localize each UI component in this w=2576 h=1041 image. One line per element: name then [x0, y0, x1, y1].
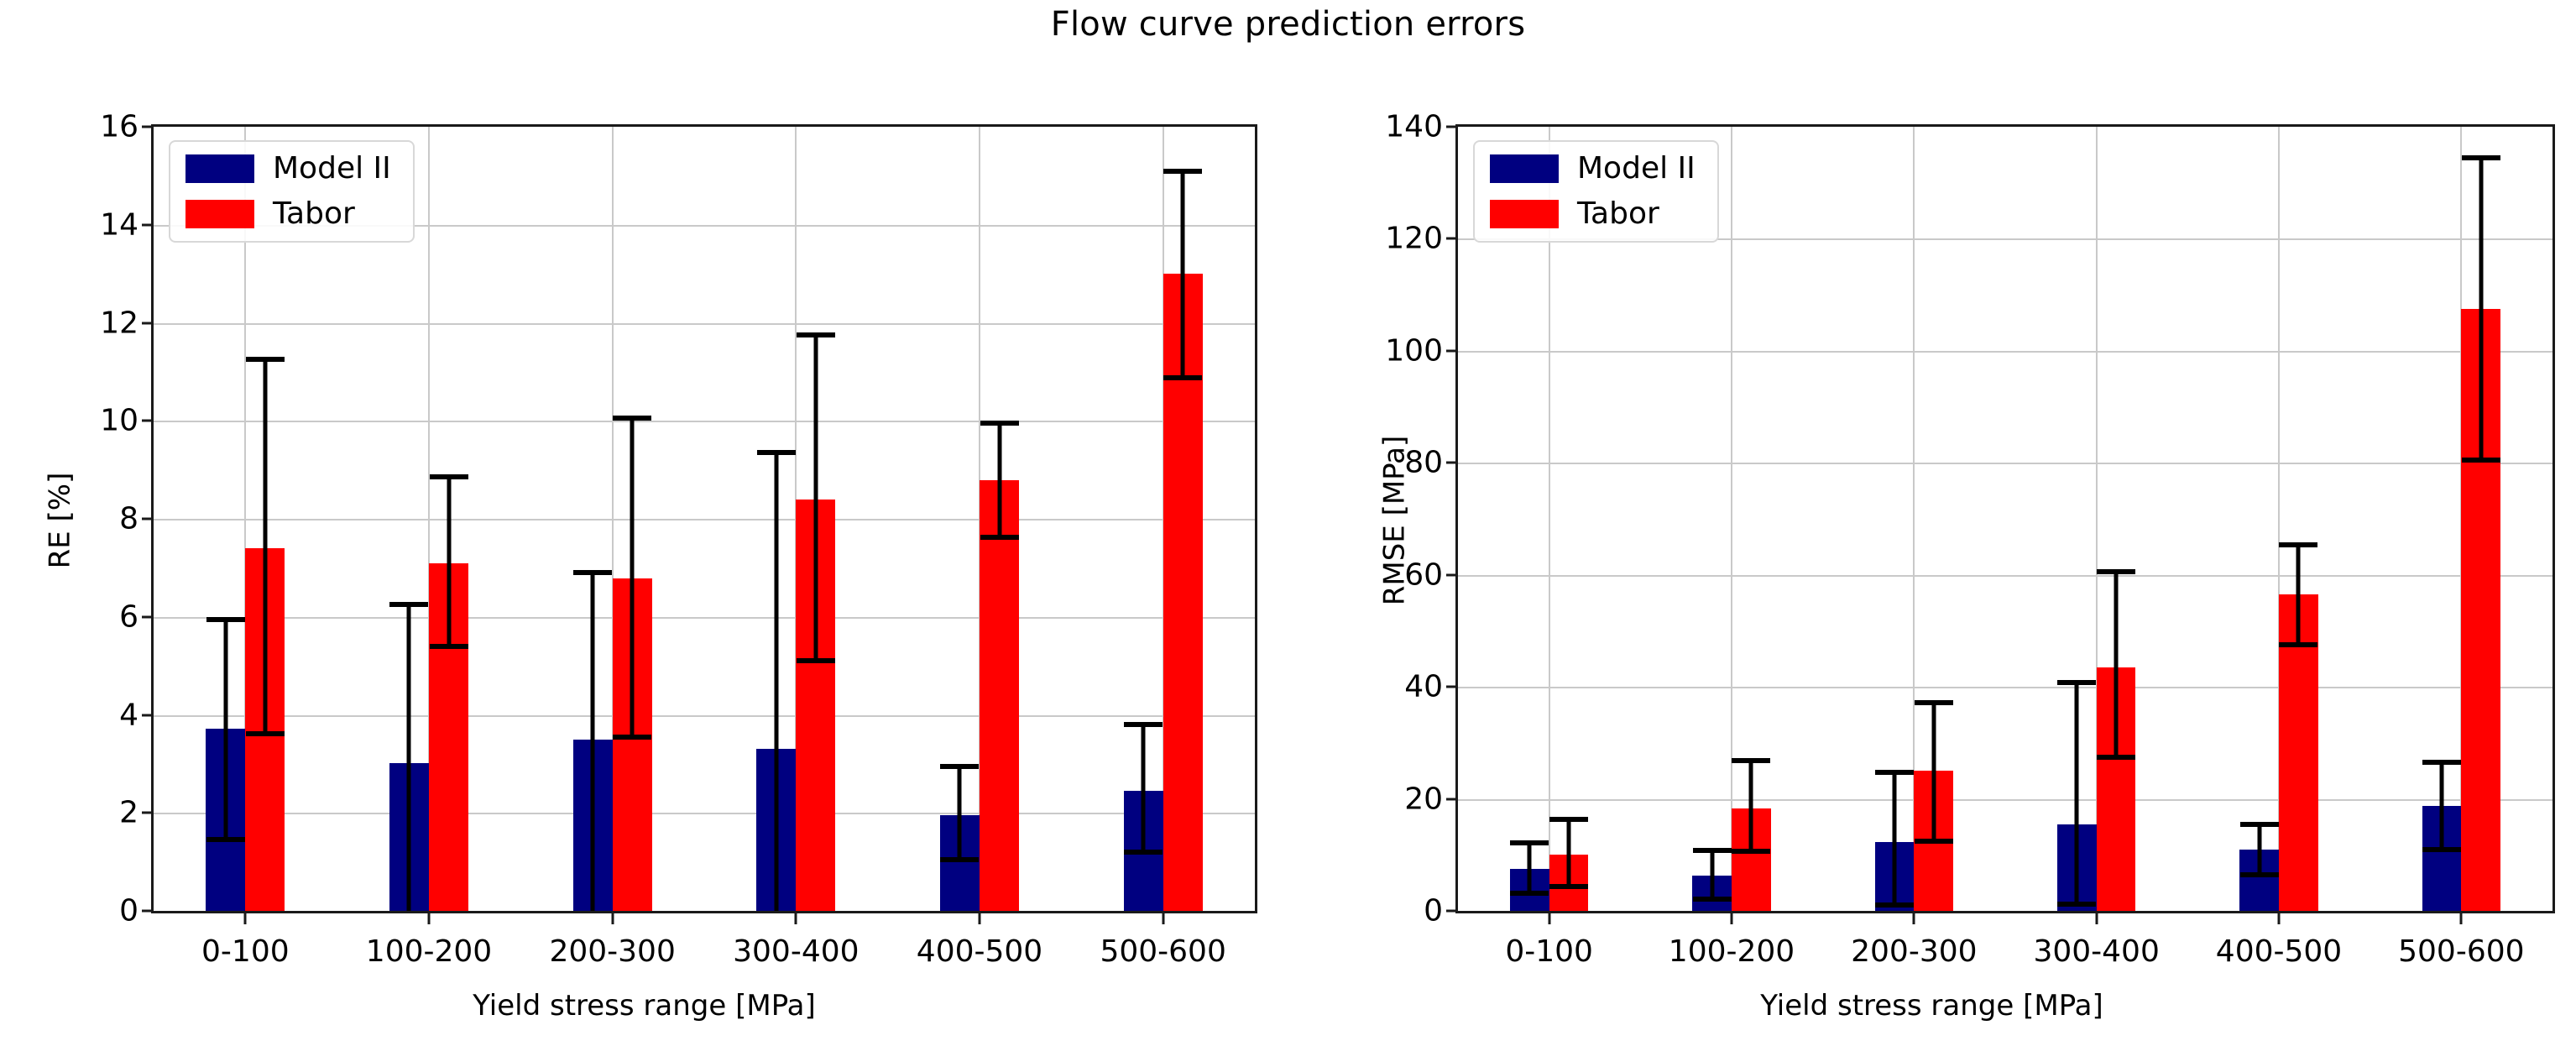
- error-bar-cap: [1510, 891, 1549, 896]
- y-gridline: [154, 617, 1255, 619]
- error-bar-cap: [757, 450, 796, 455]
- legend-swatch-icon: [1490, 154, 1559, 183]
- error-bar-line: [407, 604, 411, 911]
- error-bar-line: [1892, 772, 1896, 906]
- y-tick-mark: [1446, 798, 1458, 800]
- x-tick-mark: [1913, 911, 1915, 924]
- error-bar-cap: [1549, 817, 1588, 822]
- x-tick-label: 0-100: [1505, 934, 1593, 969]
- error-bar-cap: [2057, 680, 2096, 685]
- y-tick-label: 2: [119, 796, 138, 830]
- error-bar-cap: [430, 474, 468, 479]
- error-bar-cap: [797, 658, 835, 663]
- x-tick-mark: [1548, 911, 1550, 924]
- x-tick-mark: [979, 911, 981, 924]
- error-bar-cap: [1732, 849, 1770, 854]
- relative-error-panel: RE [%] Yield stress range [MPa] Model II…: [0, 0, 1288, 1041]
- error-bar-cap: [2462, 458, 2500, 463]
- x-tick-label: 100-200: [1669, 934, 1795, 969]
- error-bar-line: [2479, 158, 2483, 460]
- legend-item-label: Tabor: [273, 199, 355, 229]
- bar-tabor-400-500[interactable]: [980, 480, 1019, 911]
- y-gridline: [1458, 463, 2552, 464]
- x-tick-mark: [428, 911, 431, 924]
- y-tick-label: 16: [100, 110, 138, 144]
- error-bar-cap: [1875, 770, 1914, 775]
- y-tick-label: 20: [1404, 782, 1443, 816]
- error-bar-cap: [2422, 760, 2461, 765]
- error-bar-cap: [1875, 902, 1914, 908]
- y-tick-label: 80: [1404, 446, 1443, 480]
- y-gridline: [154, 519, 1255, 520]
- x-gridline: [1731, 127, 1732, 911]
- error-bar-line: [2296, 545, 2301, 645]
- y-gridline: [154, 421, 1255, 422]
- y-gridline: [1458, 351, 2552, 353]
- legend-item-model-ii[interactable]: Model II: [1490, 154, 1696, 184]
- error-bar-line: [958, 766, 962, 860]
- error-bar-cap: [940, 764, 979, 769]
- error-bar-line: [1142, 725, 1146, 852]
- error-bar-cap: [1693, 897, 1732, 902]
- error-bar-cap: [2240, 822, 2279, 827]
- error-bar-line: [630, 418, 635, 736]
- y-gridline: [1458, 799, 2552, 801]
- y-gridline: [154, 715, 1255, 717]
- error-bar-cap: [2097, 755, 2135, 760]
- error-bar-cap: [1124, 722, 1163, 727]
- error-bar-line: [2075, 683, 2079, 904]
- error-bar-cap: [1915, 839, 1953, 844]
- error-bar-cap: [573, 570, 612, 575]
- y-tick-mark: [142, 714, 154, 716]
- error-bar-cap: [2279, 542, 2317, 547]
- error-bar-line: [2114, 572, 2119, 756]
- x-tick-mark: [1162, 911, 1164, 924]
- error-bar-line: [774, 452, 778, 911]
- error-bar-line: [2257, 824, 2261, 874]
- error-bar-cap: [2240, 872, 2279, 877]
- legend-swatch-icon: [185, 154, 254, 183]
- y-gridline: [1458, 687, 2552, 688]
- legend-item-label: Model II: [1577, 154, 1696, 184]
- y-tick-mark: [1446, 686, 1458, 688]
- error-bar-line: [1710, 850, 1714, 899]
- y-tick-mark: [142, 910, 154, 913]
- error-bar-cap: [797, 332, 835, 337]
- error-bar-line: [1181, 171, 1185, 378]
- y-tick-mark: [1446, 126, 1458, 128]
- y-tick-mark: [1446, 462, 1458, 464]
- error-bar-line: [263, 359, 267, 733]
- x-axis-label-right: Yield stress range [MPa]: [1288, 989, 2576, 1023]
- error-bar-cap: [1732, 758, 1770, 763]
- error-bar-cap: [613, 416, 651, 421]
- y-tick-mark: [1446, 238, 1458, 240]
- y-gridline: [1458, 575, 2552, 577]
- error-bar-cap: [2422, 847, 2461, 852]
- error-bar-cap: [2057, 902, 2096, 907]
- x-tick-mark: [1731, 911, 1733, 924]
- error-bar-line: [1528, 843, 1532, 893]
- error-bar-cap: [1510, 840, 1549, 845]
- plot-area-left: Model IITabor 02468101214160-100100-2002…: [151, 124, 1257, 913]
- error-bar-cap: [206, 837, 245, 842]
- error-bar-line: [223, 620, 227, 840]
- legend-item-label: Tabor: [1577, 199, 1659, 229]
- x-axis-label-left: Yield stress range [MPa]: [0, 989, 1288, 1023]
- legend-item-tabor[interactable]: Tabor: [1490, 199, 1696, 229]
- error-bar-line: [1749, 761, 1753, 851]
- x-tick-label: 200-300: [1851, 934, 1977, 969]
- y-tick-mark: [142, 322, 154, 324]
- y-tick-label: 0: [1424, 894, 1443, 929]
- x-tick-label: 300-400: [733, 934, 859, 969]
- x-tick-mark: [795, 911, 797, 924]
- x-gridline: [1549, 127, 1550, 911]
- y-tick-label: 4: [119, 698, 138, 732]
- y-tick-mark: [142, 812, 154, 814]
- figure-root: Flow curve prediction errors RE [%] Yiel…: [0, 0, 2576, 1041]
- x-tick-mark: [2460, 911, 2463, 924]
- error-bar-cap: [1163, 169, 1202, 174]
- plot-area-right: Model IITabor 0204060801001201400-100100…: [1455, 124, 2555, 913]
- y-tick-label: 140: [1385, 110, 1443, 144]
- y-tick-mark: [1446, 573, 1458, 576]
- y-tick-label: 100: [1385, 333, 1443, 368]
- error-bar-cap: [2279, 642, 2317, 647]
- error-bar-cap: [430, 644, 468, 649]
- legend-item-label: Model II: [273, 154, 391, 184]
- legend-item-tabor[interactable]: Tabor: [185, 199, 391, 229]
- y-tick-label: 40: [1404, 670, 1443, 704]
- y-tick-mark: [142, 126, 154, 128]
- error-bar-cap: [1915, 700, 1953, 705]
- error-bar-line: [1567, 819, 1571, 886]
- legend-left[interactable]: Model IITabor: [169, 140, 415, 243]
- error-bar-cap: [246, 731, 285, 736]
- y-tick-mark: [142, 223, 154, 226]
- x-tick-mark: [2095, 911, 2098, 924]
- error-bar-cap: [2097, 569, 2135, 574]
- legend-item-model-ii[interactable]: Model II: [185, 154, 391, 184]
- y-tick-label: 14: [100, 207, 138, 242]
- y-tick-label: 120: [1385, 222, 1443, 256]
- error-bar-line: [591, 573, 595, 911]
- y-tick-label: 12: [100, 306, 138, 340]
- x-tick-label: 0-100: [201, 934, 290, 969]
- error-bar-line: [1931, 703, 1936, 841]
- error-bar-cap: [1549, 884, 1588, 889]
- error-bar-cap: [980, 421, 1019, 426]
- error-bar-cap: [1163, 375, 1202, 380]
- error-bar-line: [997, 423, 1001, 537]
- legend-swatch-icon: [185, 200, 254, 228]
- error-bar-cap: [980, 535, 1019, 540]
- y-tick-label: 8: [119, 502, 138, 536]
- x-tick-mark: [611, 911, 614, 924]
- x-tick-label: 500-600: [1100, 934, 1225, 969]
- x-tick-mark: [244, 911, 247, 924]
- y-tick-label: 60: [1404, 557, 1443, 592]
- y-tick-mark: [142, 420, 154, 422]
- rmse-panel: RMSE [MPa] Yield stress range [MPa] Mode…: [1288, 0, 2576, 1041]
- y-tick-mark: [1446, 349, 1458, 352]
- error-bar-cap: [246, 357, 285, 362]
- y-axis-label-left: RE [%]: [43, 473, 76, 569]
- x-tick-mark: [2278, 911, 2281, 924]
- error-bar-cap: [613, 735, 651, 740]
- x-tick-label: 100-200: [366, 934, 492, 969]
- error-bar-cap: [206, 617, 245, 622]
- error-bar-line: [447, 477, 451, 646]
- legend-swatch-icon: [1490, 200, 1559, 228]
- x-tick-label: 400-500: [917, 934, 1042, 969]
- error-bar-line: [2439, 762, 2443, 850]
- error-bar-cap: [1124, 850, 1163, 855]
- x-tick-label: 200-300: [549, 934, 675, 969]
- x-tick-label: 500-600: [2398, 934, 2524, 969]
- error-bar-line: [813, 335, 818, 661]
- error-bar-cap: [2462, 155, 2500, 160]
- y-tick-label: 6: [119, 599, 138, 634]
- y-tick-mark: [142, 615, 154, 618]
- y-tick-label: 10: [100, 404, 138, 438]
- y-gridline: [154, 323, 1255, 325]
- y-tick-label: 0: [119, 894, 138, 929]
- legend-right[interactable]: Model IITabor: [1473, 140, 1719, 243]
- y-tick-mark: [142, 518, 154, 520]
- x-tick-label: 400-500: [2216, 934, 2342, 969]
- y-gridline: [154, 813, 1255, 814]
- error-bar-cap: [940, 857, 979, 862]
- y-tick-mark: [1446, 910, 1458, 913]
- error-bar-cap: [389, 602, 428, 607]
- x-tick-label: 300-400: [2033, 934, 2159, 969]
- error-bar-cap: [1693, 848, 1732, 853]
